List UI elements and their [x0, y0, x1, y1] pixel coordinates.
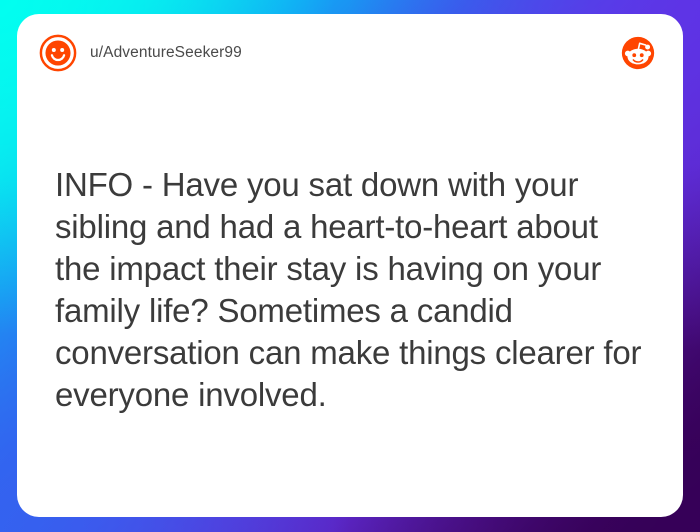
username-label: u/AdventureSeeker99 — [90, 44, 242, 62]
reddit-snoo-logo-icon[interactable] — [621, 36, 655, 70]
reddit-quote-card-screenshot: u/AdventureSeeker99 INFO - Have you sat … — [0, 0, 700, 532]
post-card: u/AdventureSeeker99 INFO - Have you sat … — [17, 14, 683, 517]
post-body-text: INFO - Have you sat down with your sibli… — [55, 164, 651, 416]
smiley-face-avatar-icon[interactable] — [39, 34, 77, 72]
post-header: u/AdventureSeeker99 — [17, 14, 683, 92]
